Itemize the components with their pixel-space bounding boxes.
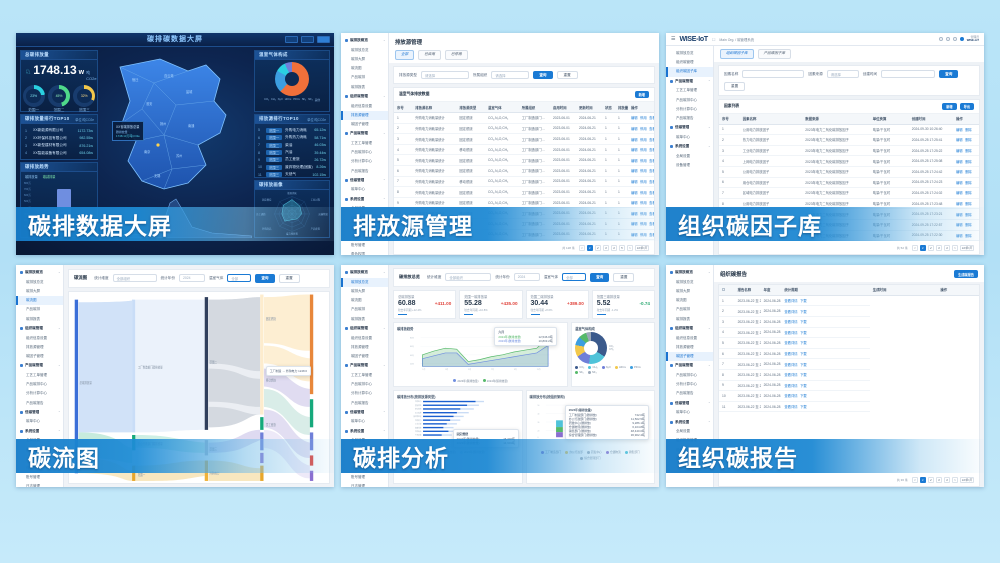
sidebar-item-product-center[interactable]: 产品碳排中心 (341, 148, 388, 157)
filter-input-time[interactable] (881, 70, 935, 78)
sidebar-item-device[interactable]: 设备管理 (666, 161, 713, 170)
row-actions[interactable]: 查看详情下载 (781, 295, 869, 306)
tab-disabled[interactable]: 已停用 (445, 50, 468, 60)
sidebar-group-system[interactable]: 系统设置^ (666, 142, 713, 152)
row-action-link[interactable]: 删除 (965, 170, 972, 174)
export-button[interactable]: 导出 (960, 103, 974, 110)
row-action-link[interactable]: 查看详情 (784, 373, 797, 377)
table-row[interactable]: 5外购电力消耗量统计固定燃烧CO₂,N₂O,CH₄工厂制造部门…2023-06-… (394, 155, 654, 166)
search-button[interactable]: 查询 (533, 71, 552, 80)
tab-org-factor[interactable]: 组织碳因子库 (720, 49, 754, 59)
sidebar-item-bigscreen[interactable]: 碳排大屏 (341, 287, 388, 296)
sidebar-group-productcarbon[interactable]: 产品碳管理^ (341, 129, 388, 139)
sidebar-item-analysis-center[interactable]: 分析计算中心 (341, 157, 388, 166)
sidebar-item-workorder[interactable]: 工艺工单管理 (341, 371, 388, 380)
filter-bar[interactable]: 因素名称 因素来源 请选择 创建时间 查询 重置 (719, 66, 979, 95)
sidebar-item-product-report[interactable]: 产品碳报告 (666, 389, 713, 398)
hamburger-icon[interactable]: ☰ (671, 36, 675, 42)
add-button[interactable]: 新增 (942, 103, 956, 110)
sidebar-group-overview[interactable]: 碳排放概览^ (341, 268, 388, 278)
row-actions[interactable]: 查看详情下载 (781, 380, 869, 391)
col-check[interactable] (719, 285, 735, 295)
table-row[interactable]: 72023-06-22 至 2024-06-222024-06-28 12:12… (719, 359, 979, 370)
table-row[interactable]: 32023-06-22 至 2024-06-222024-06-28 12:12… (719, 316, 979, 327)
report-pager[interactable]: 共 36 条 < 1 2 3 4 > 10条/页 (719, 474, 979, 486)
table-row[interactable]: 82023-06-22 至 2024-06-222024-06-28 12:12… (719, 369, 979, 380)
row-action-link[interactable]: 查看详情 (649, 148, 654, 152)
sidebar-group-lowcarbon[interactable]: 低碳管理^ (341, 176, 388, 186)
table-row[interactable]: 7外购电力消耗量统计移动燃烧CO₂,N₂O,CH₄工厂制造部门…2023-06-… (394, 176, 654, 187)
sidebar-item-carbon-center[interactable]: 碳单中心 (341, 417, 388, 426)
row-actions[interactable]: 查看详情下载 (781, 369, 869, 380)
table-row[interactable]: 6外购电力消耗量统计固定燃烧CO₂,N₂O,CH₄工厂制造部门…2023-06-… (394, 166, 654, 177)
row-actions[interactable]: 编辑停用查看详情删除记录导出数据 (628, 176, 654, 187)
pager-page-2[interactable]: 2 (928, 245, 934, 251)
sidebar-group-productcarbon[interactable]: 产品碳管理^ (666, 77, 713, 87)
filter-select-gas[interactable]: 全部 (227, 274, 251, 282)
sidebar-item-product[interactable]: 产品碳排 (666, 305, 713, 314)
pager-page-2[interactable]: 2 (595, 245, 601, 251)
topbar-actions[interactable]: 管理员 WISE-IoT (939, 36, 979, 43)
row-action-link[interactable]: 下载 (800, 320, 807, 324)
card-emission-source[interactable]: 碳排放概览^ 碳排放总览 碳排大屏 碳流图 产品碳排 碳排报表 组织碳管理^ 组… (341, 33, 659, 255)
row-actions[interactable]: 编辑删除 (953, 145, 979, 156)
sankey-node-scope1[interactable] (205, 297, 208, 430)
sidebar-item-product-report[interactable]: 产品碳报告 (666, 114, 713, 123)
row-action-link[interactable]: 编辑 (631, 127, 638, 131)
sidebar-item-overview[interactable]: 碳排放总览 (16, 278, 63, 287)
sidebar-group-productcarbon[interactable]: 产品碳管理^ (16, 361, 63, 371)
row-action-link[interactable]: 停用 (640, 180, 647, 184)
sidebar-item-carbon-center[interactable]: 碳单中心 (16, 417, 63, 426)
sidebar-group-lowcarbon[interactable]: 低碳管理^ (666, 123, 713, 133)
pager-page-1[interactable]: 1 (920, 245, 926, 251)
row-action-link[interactable]: 编辑 (956, 160, 963, 164)
row-actions[interactable]: 编辑删除 (953, 124, 979, 135)
pager-page-1[interactable]: 1 (587, 245, 593, 251)
sidebar-group-system[interactable]: 系统设置^ (16, 427, 63, 437)
checkbox-icon[interactable] (722, 288, 725, 291)
sidebar-item-flow[interactable]: 碳流图 (666, 296, 713, 305)
row-action-link[interactable]: 编辑 (631, 116, 638, 120)
sidebar-item-analysis-center[interactable]: 分析计算中心 (666, 380, 713, 389)
sidebar-item-role[interactable]: 角色权限 (341, 250, 388, 255)
pager-next[interactable]: > (952, 245, 958, 251)
search-button[interactable]: 查询 (939, 70, 958, 79)
sidebar-item-log[interactable]: 日志管理 (341, 482, 388, 487)
sidebar-item-global[interactable]: 全局设置 (666, 427, 713, 436)
row-action-link[interactable]: 停用 (640, 116, 647, 120)
row-actions[interactable]: 查看详情下载 (781, 338, 869, 349)
help-icon[interactable] (939, 37, 943, 41)
row-action-link[interactable]: 删除 (965, 149, 972, 153)
sidebar-item-overview[interactable]: 碳排放总览 (666, 278, 713, 287)
sankey-node-out2[interactable] (310, 399, 313, 427)
tab-enabled[interactable]: 已启用 (418, 50, 441, 60)
sidebar-item-workorder[interactable]: 工艺工单管理 (341, 139, 388, 148)
filter-select-year[interactable]: 2024 (514, 273, 540, 281)
sankey-node-cat1[interactable] (260, 294, 263, 414)
sidebar-item-org-info[interactable]: 组织信息设置 (341, 102, 388, 111)
table-row[interactable]: 6用仓电力排放因子2023年电力二氧化碳排放因子吨量/千瓦时2024-09-25… (719, 177, 979, 188)
sidebar-group-overview[interactable]: 碳排放概览^ (666, 268, 713, 278)
sidebar-item-product-report[interactable]: 产品碳报告 (341, 166, 388, 175)
row-action-link[interactable]: 编辑 (956, 170, 963, 174)
sidebar-item-account[interactable]: 账号管理 (341, 241, 388, 250)
sidebar-item-emission-source[interactable]: 排放源管理 (341, 343, 388, 352)
row-actions[interactable]: 查看详情下载 (781, 391, 869, 402)
row-actions[interactable]: 编辑删除 (953, 135, 979, 146)
row-actions[interactable]: 编辑停用查看详情删除记录导出数据 (628, 123, 654, 134)
sidebar-item-bigscreen[interactable]: 碳排大屏 (16, 287, 63, 296)
filter-select-dim[interactable]: 全部组织 (445, 273, 491, 281)
sidebar-item-analysis-center[interactable]: 分析计算中心 (341, 389, 388, 398)
row-action-link[interactable]: 编辑 (956, 181, 963, 185)
dashboard-header-buttons[interactable] (285, 36, 330, 43)
card-factor-library[interactable]: ☰ WISE-IoT ☐ Main Org. / 碳管理系统 管理员 WISE-… (666, 33, 984, 255)
pager-page-4[interactable]: 4 (944, 245, 950, 251)
row-action-link[interactable]: 查看详情 (649, 159, 654, 163)
tab-all[interactable]: 全部 (395, 50, 414, 60)
search-button[interactable]: 查询 (590, 273, 609, 282)
filter-bar[interactable]: 碳排放总览 统计维度 全部组织 统计年份 2024 温室气体 全部 查询 重置 (394, 269, 654, 286)
row-action-link[interactable]: 下载 (800, 331, 807, 335)
search-button[interactable]: 查询 (255, 274, 274, 283)
row-action-link[interactable]: 查看详情 (784, 331, 797, 335)
row-action-link[interactable]: 查看详情 (784, 320, 797, 324)
dashboard-btn-home[interactable] (285, 36, 298, 43)
sidebar-item-product-center[interactable]: 产品碳排中心 (666, 96, 713, 105)
row-action-link[interactable]: 查看详情 (649, 138, 654, 142)
sidebar-group-lowcarbon[interactable]: 低碳管理^ (341, 408, 388, 418)
row-action-link[interactable]: 查看详情 (784, 394, 797, 398)
row-action-link[interactable]: 编辑 (631, 191, 638, 195)
card-dashboard[interactable]: 碳排碳数据大屏 (16, 33, 334, 255)
gas-donut-chart[interactable]: 温室气体构成 CO₂ CH₄ (571, 322, 655, 387)
row-action-link[interactable]: 查看详情 (649, 201, 654, 205)
sidebar-item-workorder[interactable]: 工艺工单管理 (16, 371, 63, 380)
reset-button[interactable]: 重置 (279, 274, 300, 283)
row-actions[interactable]: 编辑删除 (953, 156, 979, 167)
row-action-link[interactable]: 编辑 (631, 169, 638, 173)
pager-prev[interactable]: < (912, 477, 918, 483)
row-action-link[interactable]: 查看详情 (784, 310, 797, 314)
emission-rank-row: 7 范围二 柴油 46.03w (258, 143, 326, 148)
filter-select-gas[interactable]: 全部 (562, 273, 586, 281)
sidebar-item-emission-source[interactable]: 排放源管理 (341, 111, 388, 120)
row-action-link[interactable]: 查看详情 (784, 299, 797, 303)
row-action-link[interactable]: 查看详情 (784, 405, 797, 409)
pager-prev[interactable]: < (579, 245, 585, 251)
row-action-link[interactable]: 删除 (965, 138, 972, 142)
row-actions[interactable]: 编辑停用查看详情删除记录导出数据 (628, 144, 654, 155)
row-action-link[interactable]: 编辑 (956, 128, 963, 132)
row-actions[interactable]: 查看详情下载 (781, 401, 869, 412)
filter-select-dim[interactable]: 全部组织 (113, 274, 157, 282)
table-row[interactable]: 2外购电力消耗量统计固定燃烧CO₂,N₂O,CH₄工厂制造部门…2023-06-… (394, 123, 654, 134)
sidebar-item-report[interactable]: 碳排报表 (341, 83, 388, 92)
sidebar-group-system[interactable]: 系统设置^ (341, 427, 388, 437)
sidebar-item-product-center[interactable]: 产品碳排中心 (16, 380, 63, 389)
sidebar-item-factor[interactable]: 碳因子管理 (16, 352, 63, 361)
sidebar-item-analysis-center[interactable]: 分析计算中心 (666, 105, 713, 114)
sidebar-group-lowcarbon[interactable]: 低碳管理^ (16, 408, 63, 418)
row-action-link[interactable]: 停用 (640, 127, 647, 131)
table-row[interactable]: 102023-06-22 至 2024-06-222024-06-28 12:1… (719, 391, 979, 402)
sidebar-item-product-center[interactable]: 产品碳排中心 (341, 380, 388, 389)
sidebar-group-overview[interactable]: 碳排放概览^ (341, 36, 388, 46)
row-actions[interactable]: 查看详情下载 (781, 306, 869, 317)
row-action-link[interactable]: 查看详情 (649, 169, 654, 173)
filter-input-type[interactable]: 请选择 (421, 71, 469, 79)
card-carbon-analysis[interactable]: 碳排放概览^ 碳排放总览 碳排大屏 碳流图 产品碳排 碳排报表 组织碳管理^ 组… (341, 265, 659, 487)
bell-icon[interactable] (946, 37, 950, 41)
sidebar-group-org[interactable]: 组织碳管理^ (666, 324, 713, 334)
pager-page-3[interactable]: 3 (936, 245, 942, 251)
row-action-link[interactable]: 停用 (640, 201, 647, 205)
sidebar-item-carbon-center[interactable]: 碳单中心 (341, 185, 388, 194)
sidebar-item-product[interactable]: 产品碳排 (341, 305, 388, 314)
sankey-node-cat2[interactable] (260, 417, 263, 430)
table-row[interactable]: 5公用电力排放因子2023年电力二氧化碳排放因子吨量/千瓦时2024-09-25… (719, 166, 979, 177)
table-row[interactable]: 92023-06-22 至 2024-06-222024-06-28 12:12… (719, 380, 979, 391)
row-action-link[interactable]: 停用 (640, 191, 647, 195)
pager-prev[interactable]: < (912, 245, 918, 251)
row-action-link[interactable]: 查看详情 (649, 116, 654, 120)
reset-button[interactable]: 重置 (613, 273, 634, 282)
row-action-link[interactable]: 编辑 (631, 180, 638, 184)
sidebar-item-overview[interactable]: 碳排放总览 (341, 278, 388, 287)
sidebar-item-org-info[interactable]: 组织信息设置 (666, 334, 713, 343)
row-action-link[interactable]: 查看详情 (784, 363, 797, 367)
sidebar-item-bigscreen[interactable]: 碳排大屏 (666, 287, 713, 296)
row-action-link[interactable]: 下载 (800, 299, 807, 303)
sidebar-group-lowcarbon[interactable]: 低碳管理^ (666, 398, 713, 408)
table-row[interactable]: 3外购电力消耗量统计固定燃烧CO₂,N₂O,CH₄工厂制造部门…2023-06-… (394, 134, 654, 145)
row-action-link[interactable]: 编辑 (956, 149, 963, 153)
table-row[interactable]: 2热力电力排放因子2023年电力二氧化碳排放因子吨量/千瓦时2024-09-25… (719, 135, 979, 146)
pager-page-4[interactable]: 4 (944, 477, 950, 483)
table-row[interactable]: 22023-06-22 至 2024-06-222024-06-28 12:12… (719, 306, 979, 317)
row-action-link[interactable]: 删除 (965, 202, 972, 206)
row-action-link[interactable]: 查看详情 (649, 180, 654, 184)
sidebar-group-system[interactable]: 系统设置^ (341, 195, 388, 205)
sidebar-group-productcarbon[interactable]: 产品碳管理^ (666, 361, 713, 371)
sidebar-item-global[interactable]: 全局设置 (666, 152, 713, 161)
filter-bar[interactable]: 碳流图 统计维度 全部组织 统计年份 2024 温室气体 全部 查询 重置 (69, 270, 329, 287)
pager-page-1[interactable]: 1 (920, 477, 926, 483)
kpi-delta: -0.74 (640, 301, 650, 306)
sidebar-item-flow[interactable]: 碳流图 (16, 296, 63, 305)
table-row[interactable]: 3工业电力排放因子2023年电力二氧化碳排放因子吨量/千瓦时2024-09-25… (719, 145, 979, 156)
filter-select-org[interactable]: 请选择 (491, 71, 529, 79)
sidebar-item-factor[interactable]: 碳因子管理 (341, 120, 388, 129)
avatar[interactable] (960, 37, 964, 41)
emission-tabs[interactable]: 全部 已启用 已停用 (389, 50, 659, 63)
sankey-node-dept1[interactable] (132, 299, 135, 432)
row-action-link[interactable]: 下载 (800, 394, 807, 398)
pager-next[interactable]: > (952, 477, 958, 483)
sidebar-item-emission-source[interactable]: 排放源管理 (16, 343, 63, 352)
filter-select-year[interactable]: 2024 (179, 274, 205, 282)
sidebar-group-org[interactable]: 组织碳管理^ (341, 324, 388, 334)
sidebar-item-flow[interactable]: 碳流图 (341, 64, 388, 73)
pager-page-3[interactable]: 3 (603, 245, 609, 251)
col-period: 统计周期 (781, 285, 869, 295)
row-action-link[interactable]: 编辑 (631, 201, 638, 205)
sidebar-item-bigscreen[interactable]: 碳排大屏 (341, 55, 388, 64)
table-row[interactable]: 52023-06-22 至 2024-06-222024-06-28 12:12… (719, 338, 979, 349)
dashboard-header: 碳排碳数据大屏 (16, 33, 334, 47)
pager-page-4[interactable]: 4 (611, 245, 617, 251)
row-action-link[interactable]: 编辑 (631, 159, 638, 163)
sidebar-item-log[interactable]: 日志管理 (16, 482, 63, 487)
card-carbon-flow[interactable]: 碳排放概览^ 碳排放总览 碳排大屏 碳流图 产品碳排 碳排报表 组织碳管理^ 组… (16, 265, 334, 487)
sankey-node-out1[interactable] (310, 294, 313, 394)
row-actions[interactable]: 查看详情下载 (781, 348, 869, 359)
table-row[interactable]: 62023-06-22 至 2024-06-222024-06-28 12:12… (719, 348, 979, 359)
row-actions[interactable]: 编辑停用查看详情删除记录 (628, 134, 654, 145)
table-row[interactable]: 8外购电力消耗量统计固定燃烧CO₂,N₂O,CH₄工厂制造部门…2023-06-… (394, 187, 654, 198)
sidebar-item-product-center[interactable]: 产品碳排中心 (666, 371, 713, 380)
row-action-link[interactable]: 查看详情 (784, 352, 797, 356)
sidebar-group-system[interactable]: 系统设置^ (666, 417, 713, 427)
sidebar-group-productcarbon[interactable]: 产品碳管理^ (341, 361, 388, 371)
filter-bar[interactable]: 排放源类型 请选择 所属组织 请选择 查询 重置 (394, 67, 654, 84)
sidebar-item-report[interactable]: 碳排报表 (341, 315, 388, 324)
pager-size[interactable]: 10条/页 (960, 477, 974, 483)
sidebar-item-report[interactable]: 碳排报表 (16, 315, 63, 324)
row-action-link[interactable]: 编辑 (631, 138, 638, 142)
row-actions[interactable]: 编辑停用查看详情删除记录 (628, 113, 654, 124)
row-action-link[interactable]: 删除 (965, 160, 972, 164)
sidebar-item-org-info[interactable]: 组织信息设置 (16, 334, 63, 343)
dashboard-btn-analysis[interactable] (301, 36, 314, 43)
row-action-link[interactable]: 删除 (965, 181, 972, 185)
row-action-link[interactable]: 下载 (800, 310, 807, 314)
sidebar-item-account[interactable]: 账号管理 (341, 473, 388, 482)
pager-page-2[interactable]: 2 (928, 477, 934, 483)
row-action-link[interactable]: 停用 (640, 148, 647, 152)
pager-next[interactable]: > (627, 245, 633, 251)
table-row[interactable]: 1公用电力排放因子2023年电力二氧化碳排放因子吨量/千瓦时2024-09-30… (719, 124, 979, 135)
tab-product-factor[interactable]: 产品碳因子库 (758, 49, 792, 59)
dashboard-btn-screen[interactable] (317, 36, 330, 43)
sidebar-item-product[interactable]: 产品碳排 (341, 73, 388, 82)
row-action-link[interactable]: 停用 (640, 159, 647, 163)
sidebar-item-analysis-center[interactable]: 分析计算中心 (16, 389, 63, 398)
pager-page-3[interactable]: 3 (936, 477, 942, 483)
row-action-link[interactable]: 停用 (640, 169, 647, 173)
table-row[interactable]: 1外购电力消耗量统计固定燃烧CO₂,N₂O,CH₄工厂制造部门…2023-06-… (394, 113, 654, 124)
sidebar-item-flow[interactable]: 碳流图 (341, 296, 388, 305)
table-row[interactable]: 4上网电力排放因子2023年电力二氧化碳排放因子吨量/千瓦时2024-09-25… (719, 156, 979, 167)
row-action-link[interactable]: 下载 (800, 405, 807, 409)
sidebar-item-carbon-center[interactable]: 碳单中心 (666, 133, 713, 142)
sidebar-item-org-report[interactable]: 碳因子管理 (666, 352, 713, 361)
sidebar-item-emission-source[interactable]: 排放源管理 (666, 343, 713, 352)
sidebar-group-overview[interactable]: 碳排放概览^ (16, 268, 63, 278)
row-actions[interactable]: 编辑停用查看详情删除记录 (628, 166, 654, 177)
emission-pager[interactable]: 共 128 条 < 1 2 3 4 5 > 10条/页 (394, 242, 654, 254)
add-button[interactable]: 新增 (635, 91, 649, 98)
sidebar-item-product[interactable]: 产品碳排 (16, 305, 63, 314)
pager-size[interactable]: 10条/页 (960, 245, 974, 251)
sidebar-item-report[interactable]: 碳排报表 (666, 315, 713, 324)
row-action-link[interactable]: 编辑 (956, 191, 963, 195)
sidebar-item-org-info[interactable]: 组织信息设置 (341, 334, 388, 343)
sidebar-item-overview[interactable]: 碳排放总览 (341, 46, 388, 55)
row-action-link[interactable]: 编辑 (956, 202, 963, 206)
gear-icon[interactable] (953, 37, 957, 41)
filter-input-name[interactable] (742, 70, 804, 78)
row-action-link[interactable]: 停用 (640, 138, 647, 142)
card-carbon-report[interactable]: 碳排放概览^ 碳排放总览 碳排大屏 碳流图 产品碳排 碳排报表 组织碳管理^ 组… (666, 265, 984, 487)
sidebar-item-overview[interactable]: 碳排放总览 (666, 49, 713, 58)
reset-button[interactable]: 重置 (724, 82, 745, 91)
table-row[interactable]: 112023-06-22 至 2024-06-222024-06-28 12:1… (719, 401, 979, 412)
factor-tabs[interactable]: 组织碳因子库 产品碳因子库 (714, 46, 984, 62)
generate-report-button[interactable]: 生成碳报告 (954, 270, 978, 278)
sidebar-item-account[interactable]: 账号管理 (16, 473, 63, 482)
sidebar-item-org-carbon[interactable]: 组织碳管理 (666, 58, 713, 67)
sidebar-item-carbon-center[interactable]: 碳单中心 (666, 408, 713, 417)
filter-select-source[interactable]: 请选择 (827, 70, 859, 78)
row-action-link[interactable]: 下载 (800, 384, 807, 388)
table-row[interactable]: 7区域电力排放因子2023年电力二氧化碳排放因子吨量/千瓦时2024-09-25… (719, 188, 979, 199)
reset-button[interactable]: 重置 (557, 71, 578, 80)
table-row[interactable]: 12023-06-22 至 2024-06-222024-06-28 12:12… (719, 295, 979, 306)
pager-page-5[interactable]: 5 (619, 245, 625, 251)
row-name: 废弃物处理(固废) (285, 165, 313, 170)
row-action-link[interactable]: 下载 (800, 352, 807, 356)
sidebar-item-product-report[interactable]: 产品碳报告 (16, 398, 63, 407)
row-actions[interactable]: 查看详情下载 (781, 316, 869, 327)
row-action-link[interactable]: 下载 (800, 341, 807, 345)
factor-pager[interactable]: 共 52 条 < 1 2 3 4 > 10条/页 (719, 242, 979, 254)
sidebar-item-workorder[interactable]: 工艺工单管理 (666, 86, 713, 95)
row-action-link[interactable]: 查看详情 (784, 341, 797, 345)
row-actions[interactable]: 编辑删除 (953, 177, 979, 188)
row-action-link[interactable]: 下载 (800, 373, 807, 377)
row-actions[interactable]: 编辑删除 (953, 166, 979, 177)
breadcrumb[interactable]: Main Org. / 碳管理系统 (719, 37, 754, 42)
sidebar-group-org[interactable]: 组织碳管理^ (341, 92, 388, 102)
sidebar-item-factor[interactable]: 碳因子管理 (341, 352, 388, 361)
table-row[interactable]: 42023-06-22 至 2024-06-222024-06-28 12:12… (719, 327, 979, 338)
row-action-link[interactable]: 编辑 (956, 138, 963, 142)
row-action-link[interactable]: 删除 (965, 191, 972, 195)
row-action-link[interactable]: 查看详情 (649, 191, 654, 195)
sidebar-group-org[interactable]: 组织碳管理^ (16, 324, 63, 334)
sidebar-item-product-report[interactable]: 产品碳报告 (341, 398, 388, 407)
row-actions[interactable]: 查看详情下载 (781, 327, 869, 338)
row-actions[interactable]: 编辑停用查看详情删除记录 (628, 155, 654, 166)
row-action-link[interactable]: 编辑 (631, 148, 638, 152)
table-cell: 公用电力排放因子 (740, 124, 802, 135)
row-action-link[interactable]: 查看详情 (649, 127, 654, 131)
row-actions[interactable]: 编辑删除 (953, 188, 979, 199)
sidebar-item-org-factor[interactable]: 组织碳因子库 (666, 67, 713, 76)
row-action-link[interactable]: 下载 (800, 363, 807, 367)
row-action-link[interactable]: 查看详情 (784, 384, 797, 388)
pager-size[interactable]: 10条/页 (635, 245, 649, 251)
table-row[interactable]: 4外购电力消耗量统计移动燃烧CO₂,N₂O,CH₄工厂制造部门…2023-06-… (394, 144, 654, 155)
row-actions[interactable]: 查看详情下载 (781, 359, 869, 370)
trend-area-chart[interactable]: 碳排放趋势 80万60万40万20万 (393, 322, 568, 387)
row-actions[interactable]: 编辑停用查看详情删除记录 (628, 187, 654, 198)
row-action-link[interactable]: 删除 (965, 128, 972, 132)
